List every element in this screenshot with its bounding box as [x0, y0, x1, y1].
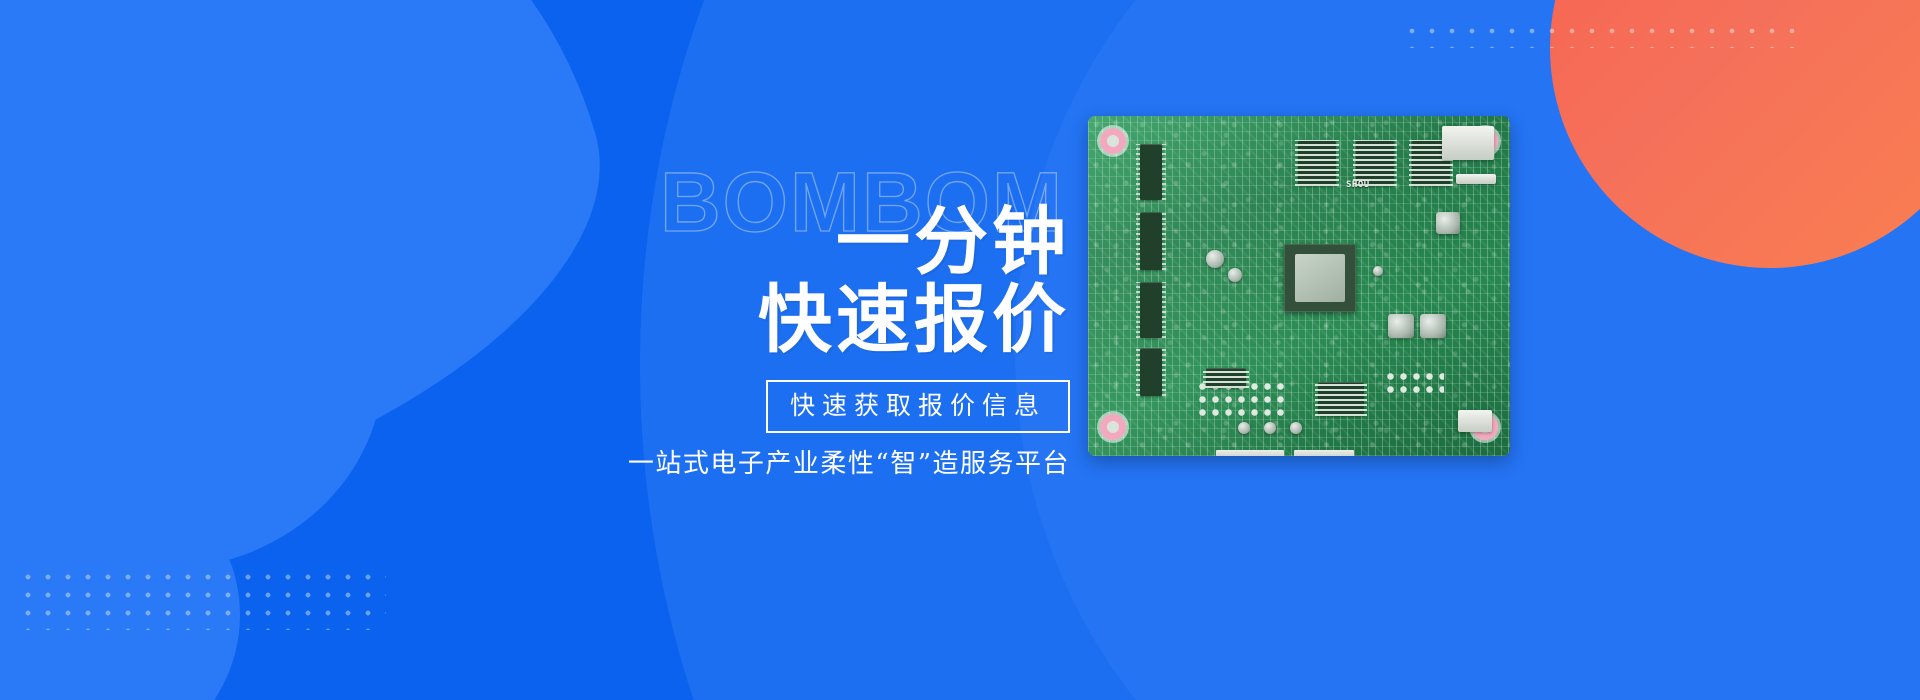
capacitor — [1228, 268, 1242, 282]
ic-chip — [1318, 382, 1364, 416]
card-slot-connector — [1442, 126, 1494, 160]
pcb-board-image: SHOU — [1088, 116, 1510, 456]
pcb-board: SHOU — [1088, 116, 1510, 456]
main-processor-chip — [1284, 244, 1356, 312]
bottom-connector — [1216, 450, 1284, 456]
capacitor — [1264, 422, 1276, 434]
capacitor — [1206, 250, 1224, 268]
headline-line-1: 一分钟 — [670, 206, 1070, 278]
inductor — [1420, 314, 1446, 338]
processor-die — [1295, 254, 1345, 302]
inductor — [1436, 212, 1460, 234]
io-header — [1458, 410, 1492, 432]
capacitor — [1373, 266, 1383, 276]
ic-chip — [1140, 282, 1162, 338]
headline: 一分钟 快速报价 — [670, 206, 1070, 356]
edge-connector — [1456, 174, 1496, 184]
silkscreen-label: SHOU — [1346, 180, 1370, 190]
mounting-hole-top-left — [1100, 128, 1126, 154]
ic-chip — [1140, 144, 1162, 200]
ic-chip — [1206, 368, 1246, 388]
tagline: 一站式电子产业柔性“智”造服务平台 — [360, 448, 1070, 480]
ic-chip — [1298, 140, 1336, 186]
capacitor — [1290, 422, 1302, 434]
pad-array — [1384, 370, 1444, 396]
ic-chip — [1140, 348, 1162, 396]
headline-line-2: 快速报价 — [670, 284, 1070, 356]
ic-chip — [1140, 212, 1162, 270]
mounting-hole-bottom-left — [1100, 414, 1126, 440]
get-quote-button[interactable]: 快速获取报价信息 — [766, 380, 1070, 433]
promo-banner: BOMBOM 一分钟 快速报价 快速获取报价信息 一站式电子产业柔性“智”造服务… — [0, 0, 1920, 700]
banner-content: BOMBOM 一分钟 快速报价 快速获取报价信息 一站式电子产业柔性“智”造服务… — [0, 0, 1920, 700]
capacitor — [1238, 422, 1250, 434]
banner-text-block: BOMBOM 一分钟 快速报价 快速获取报价信息 一站式电子产业柔性“智”造服务… — [670, 160, 1070, 480]
inductor — [1388, 314, 1414, 338]
bottom-connector — [1294, 450, 1354, 456]
